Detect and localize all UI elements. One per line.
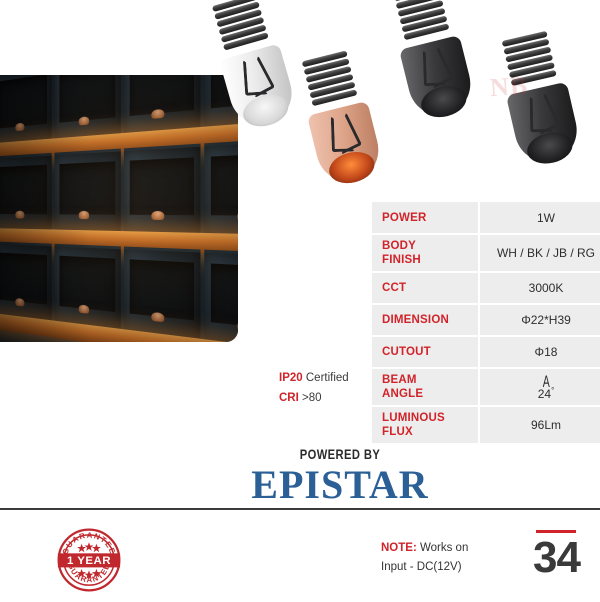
spec-label-power: POWER — [372, 202, 479, 234]
certification-notes: IP20 Certified CRI >80 — [279, 368, 349, 408]
footer-divider — [0, 508, 600, 510]
spec-label-line1: BEAM — [382, 374, 417, 386]
spec-value-cutout: Φ18 — [479, 336, 600, 368]
spec-value-cct: 3000K — [479, 272, 600, 304]
cri-label: CRI — [279, 392, 299, 404]
beam-angle-cone-icon: A 24° — [538, 374, 555, 400]
guarantee-stamp-icon: GUARANTEE GUARANTEE 1 YEAR — [52, 523, 126, 597]
heatsink-fins — [212, 0, 269, 51]
brand-watermark: NB — [489, 71, 529, 104]
guarantee-badge: GUARANTEE GUARANTEE 1 YEAR — [52, 523, 126, 597]
spec-label-cutout: CUTOUT — [372, 336, 479, 368]
spec-label-line2: ANGLE — [382, 388, 423, 400]
spec-label-cct: CCT — [372, 272, 479, 304]
heatsink-fins — [394, 0, 450, 40]
epistar-branding: POWERED BY EPISTAR — [232, 446, 448, 507]
guarantee-duration-text: 1 YEAR — [67, 555, 111, 567]
heatsink-fins — [302, 50, 358, 106]
table-row: BODY FINISH WH / BK / JB / RG — [372, 234, 600, 272]
spec-label-luminous-flux: LUMINOUS FLUX — [372, 406, 479, 444]
application-photo — [0, 75, 238, 342]
table-row: LUMINOUS FLUX 96Lm — [372, 406, 600, 444]
certification-ip20: IP20 Certified — [279, 368, 349, 388]
certification-cri: CRI >80 — [279, 388, 349, 408]
spec-label-body-finish: BODY FINISH — [372, 234, 479, 272]
product-image-group: NB — [228, 0, 600, 206]
spec-label-line1: LUMINOUS — [382, 412, 445, 424]
spec-value-beam-angle: A 24° — [479, 368, 600, 406]
degree-symbol: ° — [551, 386, 554, 395]
spec-label-beam-angle: BEAM ANGLE — [372, 368, 479, 406]
photo-vignette — [0, 75, 238, 342]
note-line-2: Input - DC(12V) — [381, 558, 468, 577]
table-row: BEAM ANGLE A 24° — [372, 368, 600, 406]
powered-by-text: POWERED BY — [254, 446, 427, 462]
page-number-text: 34 — [533, 535, 600, 581]
spec-value-dimension: Φ22*H39 — [479, 304, 600, 336]
photo-canvas — [0, 75, 238, 342]
table-row: CCT 3000K — [372, 272, 600, 304]
table-row: CUTOUT Φ18 — [372, 336, 600, 368]
note-line-1: NOTE: Works on — [381, 539, 468, 558]
table-row: POWER 1W — [372, 202, 600, 234]
table-row: DIMENSION Φ22*H39 — [372, 304, 600, 336]
spec-value-body-finish: WH / BK / JB / RG — [479, 234, 600, 272]
spec-label-line1: BODY — [382, 240, 416, 252]
beam-cone-glyph: A — [541, 374, 551, 389]
note-block: NOTE: Works on Input - DC(12V) — [381, 539, 468, 577]
spec-value-luminous-flux: 96Lm — [479, 406, 600, 444]
spec-value-power: 1W — [479, 202, 600, 234]
cri-text: >80 — [302, 392, 322, 404]
spec-label-line2: FINISH — [382, 254, 421, 266]
note-label: NOTE: — [381, 542, 417, 554]
ip20-label: IP20 — [279, 372, 303, 384]
epistar-wordmark: EPISTAR — [232, 463, 448, 507]
star-row-top — [77, 542, 101, 552]
spec-label-line2: FLUX — [382, 426, 413, 438]
ip20-text: Certified — [306, 372, 349, 384]
spec-label-dimension: DIMENSION — [372, 304, 479, 336]
page-number: 34 — [533, 530, 600, 581]
note-text-1: Works on — [417, 542, 469, 554]
specification-table: POWER 1W BODY FINISH WH / BK / JB / RG C… — [372, 202, 600, 445]
